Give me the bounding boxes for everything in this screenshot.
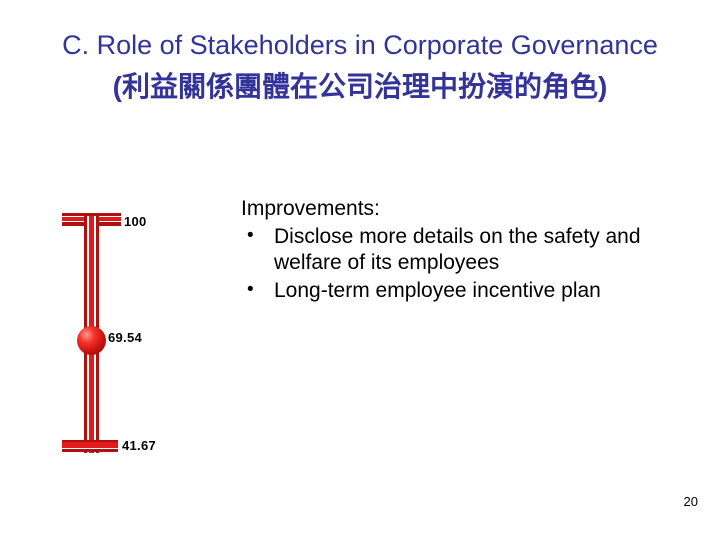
range-marker-diagram: 100 69.54 41.67 [56, 200, 206, 470]
bullet-icon: • [247, 277, 254, 303]
list-item: • Disclose more details on the safety an… [241, 224, 681, 276]
bullet-list: • Disclose more details on the safety an… [241, 224, 681, 304]
list-item-label: Long-term employee incentive plan [274, 279, 601, 302]
range-sphere-marker-icon [77, 326, 106, 355]
content-heading: Improvements: [241, 196, 681, 222]
range-label-bottom: 41.67 [122, 438, 156, 453]
page-number: 20 [684, 494, 698, 509]
range-bottom-cap-icon [62, 440, 118, 452]
list-item: • Long-term employee incentive plan [241, 278, 681, 304]
range-label-middle: 69.54 [108, 330, 142, 345]
content-block: Improvements: • Disclose more details on… [241, 196, 681, 306]
list-item-label: Disclose more details on the safety and … [274, 225, 641, 274]
page-title: C. Role of Stakeholders in Corporate Gov… [34, 30, 686, 61]
page-subtitle-chinese: (利益關係團體在公司治理中扮演的角色) [34, 67, 686, 107]
range-label-top: 100 [124, 214, 147, 229]
slide-title-block: C. Role of Stakeholders in Corporate Gov… [34, 30, 686, 107]
bullet-icon: • [247, 223, 254, 249]
